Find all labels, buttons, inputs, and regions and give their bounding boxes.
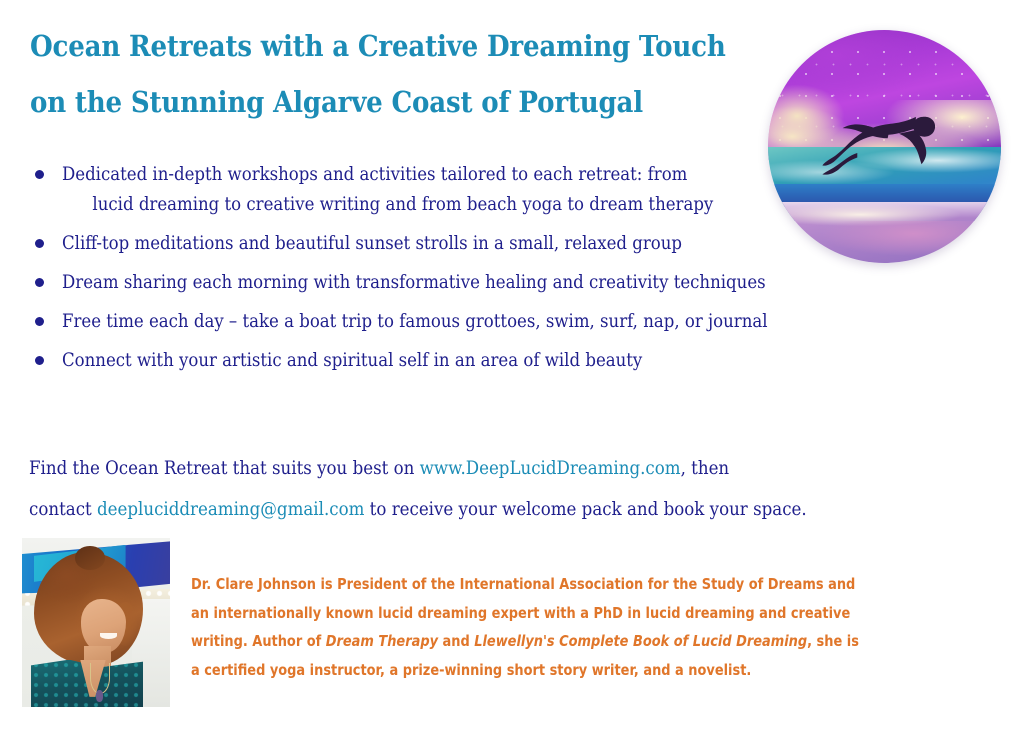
- book-title-dream-therapy: Dream Therapy: [326, 632, 438, 650]
- page-title-line-2: on the Stunning Algarve Coast of Portuga…: [30, 74, 689, 130]
- bio-text-part-2: and: [438, 632, 474, 650]
- page-title-line-1: Ocean Retreats with a Creative Dreaming …: [30, 18, 689, 74]
- bullet-dot-icon: [35, 239, 44, 248]
- contact-paragraph: Find the Ocean Retreat that suits you be…: [29, 448, 969, 530]
- contact-text-after-website: , then: [681, 458, 730, 479]
- contact-line-1: Find the Ocean Retreat that suits you be…: [29, 448, 875, 489]
- list-item-line: Dedicated in-depth workshops and activit…: [62, 160, 803, 190]
- flyer-page: Ocean Retreats with a Creative Dreaming …: [0, 0, 1024, 740]
- email-link[interactable]: deepluciddreaming@gmail.com: [97, 499, 364, 520]
- list-item: Connect with your artistic and spiritual…: [30, 346, 890, 376]
- portrait-pendant: [96, 690, 103, 702]
- page-title: Ocean Retreats with a Creative Dreaming …: [30, 18, 689, 130]
- bio-line-2: an internationally known lucid dreaming …: [191, 599, 851, 628]
- bullet-dot-icon: [35, 356, 44, 365]
- bio-text-part-1: writing. Author of: [191, 632, 326, 650]
- website-link[interactable]: www.DeepLucidDreaming.com: [420, 458, 681, 479]
- contact-text-after-email: to receive your welcome pack and book yo…: [364, 499, 806, 520]
- bullet-dot-icon: [35, 278, 44, 287]
- author-bio: Dr. Clare Johnson is President of the In…: [191, 570, 981, 684]
- list-item: Free time each day – take a boat trip to…: [30, 307, 890, 337]
- bio-line-4: a certified yoga instructor, a prize-win…: [191, 656, 851, 685]
- list-item-line: Cliff-top meditations and beautiful suns…: [62, 229, 803, 259]
- bio-text-part-3: , she is: [807, 632, 859, 650]
- contact-text-before-email: contact: [29, 499, 97, 520]
- author-portrait-photo: [22, 538, 170, 707]
- list-item: Dedicated in-depth workshops and activit…: [30, 160, 890, 220]
- list-item-line: Free time each day – take a boat trip to…: [62, 307, 803, 337]
- bio-line-3: writing. Author of Dream Therapy and Lle…: [191, 627, 851, 656]
- list-item: Dream sharing each morning with transfor…: [30, 268, 890, 298]
- list-item: Cliff-top meditations and beautiful suns…: [30, 229, 890, 259]
- book-title-llewellyns-complete-book: Llewellyn's Complete Book of Lucid Dream…: [474, 632, 807, 650]
- portrait-face: [81, 599, 125, 653]
- list-item-line: Connect with your artistic and spiritual…: [62, 346, 803, 376]
- retreat-features-list: Dedicated in-depth workshops and activit…: [30, 160, 890, 385]
- portrait-hair-bun: [75, 546, 105, 570]
- list-item-line: Dream sharing each morning with transfor…: [62, 268, 803, 298]
- contact-line-2: contact deepluciddreaming@gmail.com to r…: [29, 489, 875, 530]
- bullet-dot-icon: [35, 170, 44, 179]
- contact-text-before-website: Find the Ocean Retreat that suits you be…: [29, 458, 420, 479]
- list-item-line: lucid dreaming to creative writing and f…: [62, 190, 803, 220]
- bullet-dot-icon: [35, 317, 44, 326]
- bio-line-1: Dr. Clare Johnson is President of the In…: [191, 570, 851, 599]
